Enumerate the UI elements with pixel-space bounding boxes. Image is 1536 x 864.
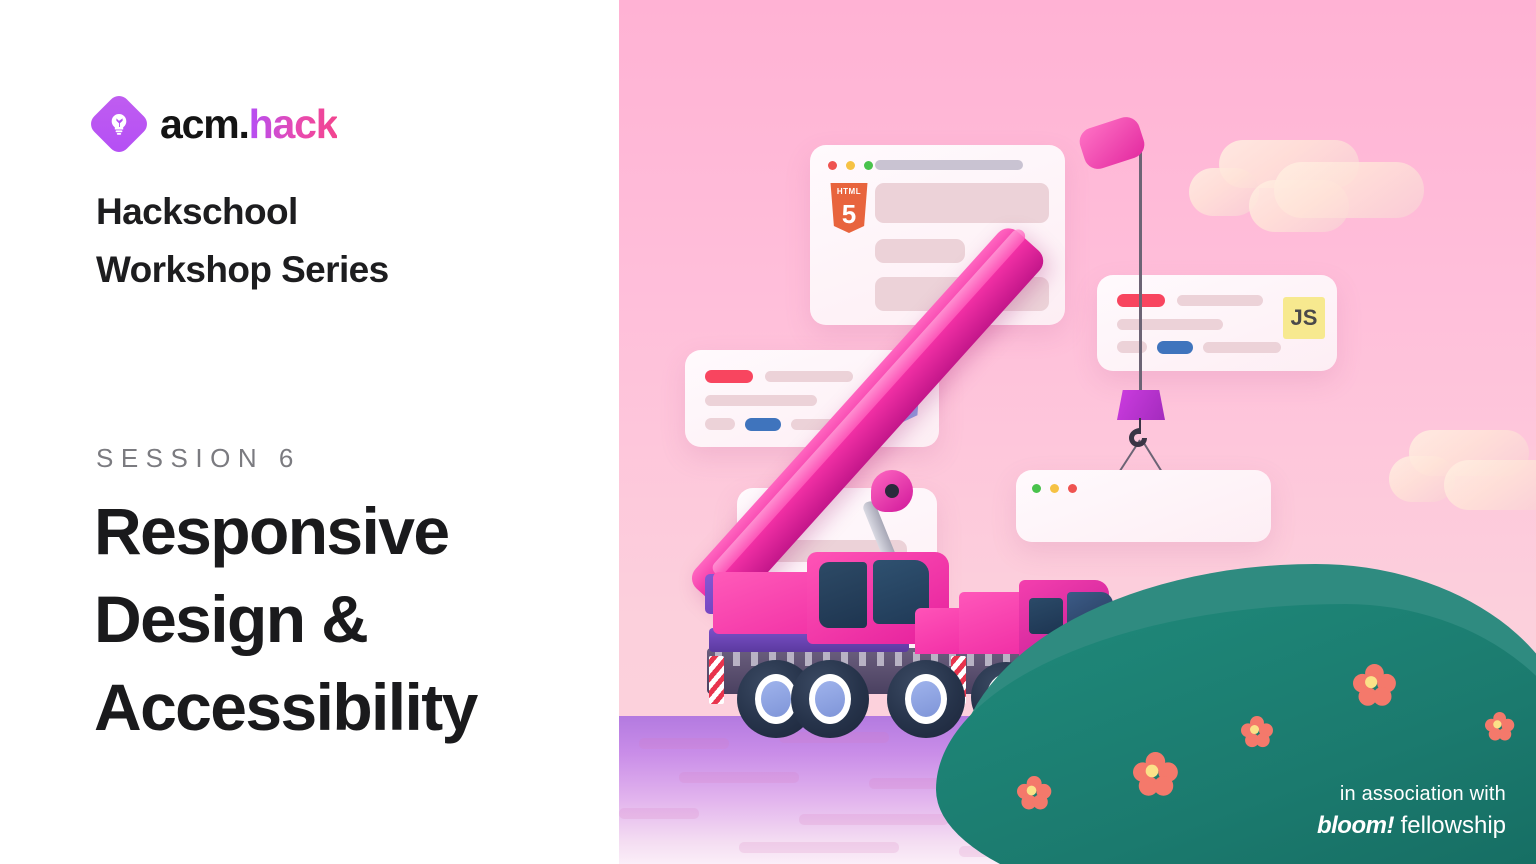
wheel-hub	[809, 674, 851, 724]
workshop-series-subtitle: Hackschool Workshop Series	[96, 183, 566, 299]
card-js: JS	[1097, 275, 1337, 371]
window-dots	[828, 161, 873, 170]
presentation-slide: acm.hack Hackschool Workshop Series SESS…	[0, 0, 1536, 864]
title-line-2: Design &	[94, 576, 614, 664]
dot-green	[864, 161, 873, 170]
html5-logo-icon: HTML5	[828, 183, 870, 233]
brand-logo[interactable]: acm.hack	[96, 101, 337, 147]
card-hanging	[1016, 470, 1271, 542]
wheel-hub	[905, 674, 947, 724]
card-shadow-edge	[1265, 482, 1285, 530]
window-dots	[1032, 484, 1077, 493]
truck-wheel	[887, 660, 965, 738]
partner-name: bloom!	[1317, 812, 1394, 839]
session-label: SESSION 6	[96, 443, 301, 474]
subtitle-line-2: Workshop Series	[96, 241, 566, 299]
association-credit: in association with bloom! fellowship	[1317, 780, 1506, 844]
crane-hook-icon	[1125, 418, 1157, 452]
left-content-panel: acm.hack Hackschool Workshop Series SESS…	[0, 0, 619, 864]
truck-wheel	[791, 660, 869, 738]
card-shadow-edge	[1331, 287, 1351, 359]
cloud-icon	[1389, 430, 1536, 510]
crane-boom-head	[1076, 113, 1148, 172]
crane-pivot-bolt-icon	[885, 484, 899, 498]
page-title: Responsive Design & Accessibility	[94, 488, 614, 751]
hoist-cable	[1139, 152, 1142, 392]
association-line: in association with	[1317, 780, 1506, 809]
brand-name-hack: hack	[249, 101, 338, 147]
dot-red	[1068, 484, 1077, 493]
partner-suffix: fellowship	[1401, 812, 1506, 839]
title-line-3: Accessibility	[94, 664, 614, 752]
card-html: HTML5	[810, 145, 1065, 325]
brand-name-acm: acm.	[160, 101, 249, 147]
dot-green	[1032, 484, 1041, 493]
cloud-icon	[1189, 140, 1399, 230]
title-line-1: Responsive	[94, 488, 614, 576]
card-shadow-edge	[1059, 157, 1079, 313]
subtitle-line-1: Hackschool	[96, 183, 566, 241]
lightbulb-diamond-icon	[86, 91, 151, 156]
brand-wordmark: acm.hack	[160, 104, 337, 145]
hero-illustration: HTML5 CSS3 JS	[619, 0, 1536, 864]
outrigger-stripe-left	[709, 656, 724, 704]
dot-yellow	[846, 161, 855, 170]
dot-red	[828, 161, 837, 170]
dot-yellow	[1050, 484, 1059, 493]
hook-block	[1117, 390, 1165, 420]
cab-window-front	[819, 562, 867, 628]
partner-credit: bloom! fellowship	[1317, 809, 1506, 844]
js-logo-icon: JS	[1283, 297, 1325, 339]
